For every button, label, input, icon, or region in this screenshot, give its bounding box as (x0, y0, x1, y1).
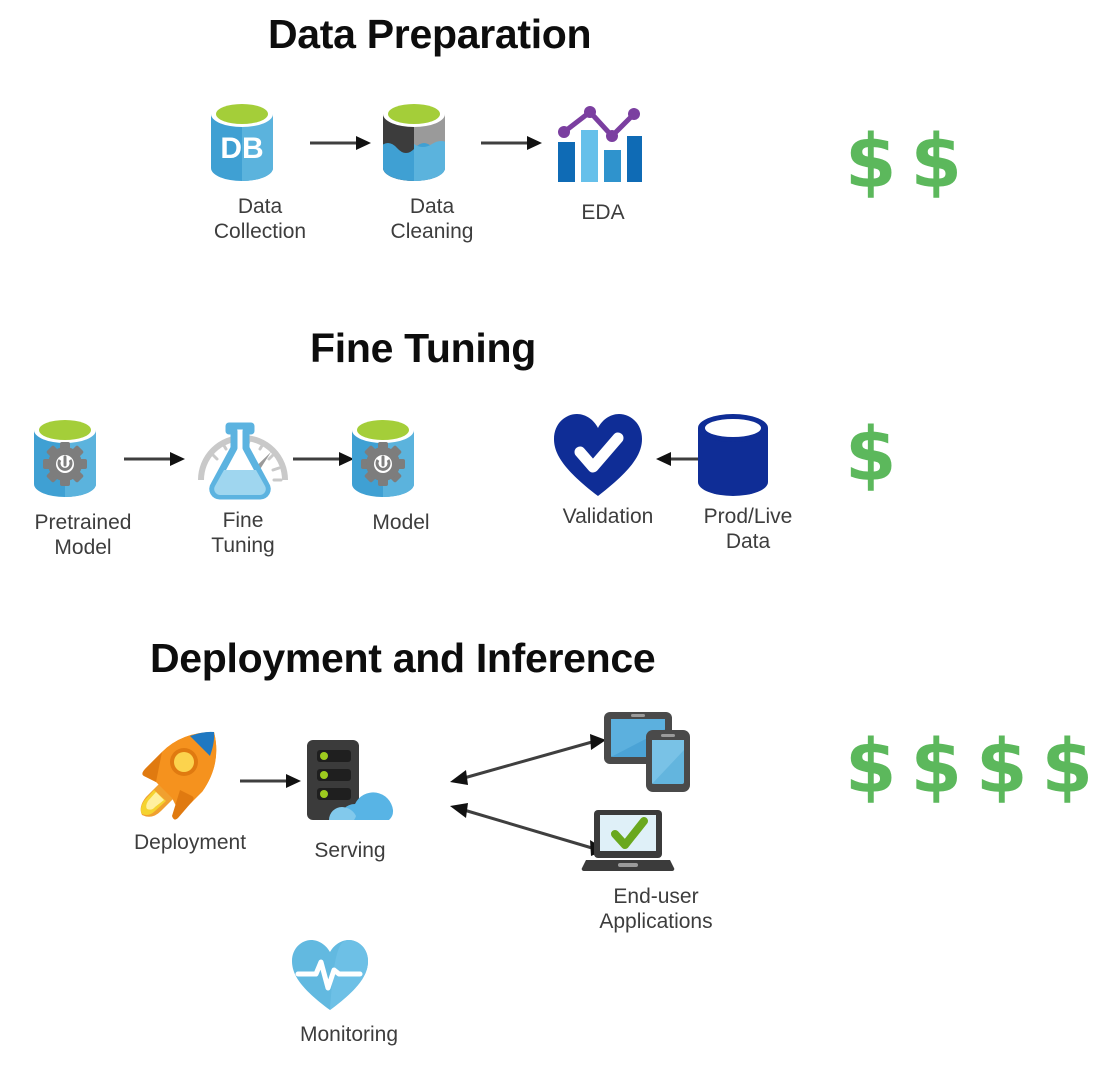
node-serving: Serving (295, 736, 405, 863)
node-prod-live-data: Prod/Live Data (692, 412, 804, 554)
rocket-icon (126, 728, 254, 820)
section-title-deployment-and-inference: Deployment and Inference (150, 638, 655, 679)
arrow-deployment-to-serving (240, 772, 302, 790)
node-label-fine-tuning: Fine Tuning (187, 508, 299, 558)
flask-gauge-icon (187, 408, 299, 504)
database-db-icon: DB (199, 96, 321, 188)
node-label-end-user-applications: End-user Applications (580, 884, 732, 934)
dollar-sign-icon: $ (845, 125, 897, 199)
node-label-data-collection: Data Collection (199, 194, 321, 244)
node-label-monitoring: Monitoring (290, 1022, 408, 1047)
node-end-user-applications: End-user Applications (580, 808, 732, 934)
cost-indicator-data-preparation: $ $ (845, 125, 962, 199)
arrow-cleaning-to-eda (481, 134, 543, 152)
heart-check-icon (552, 412, 664, 500)
node-label-model: Model (340, 510, 462, 535)
arrow-collection-to-cleaning (310, 134, 372, 152)
dollar-sign-icon: $ (976, 730, 1028, 804)
arrow-pretrained-to-finetuning (124, 450, 186, 468)
node-eda: EDA (548, 90, 658, 225)
node-label-prod-live-data: Prod/Live Data (692, 504, 804, 554)
node-data-collection: DB Data Collection (199, 96, 321, 244)
node-pretrained-model: Pretrained Model (22, 412, 144, 560)
node-monitoring: Monitoring (290, 938, 408, 1047)
tablet-phone-icon (598, 704, 714, 796)
node-label-serving: Serving (295, 838, 405, 863)
section-title-fine-tuning: Fine Tuning (310, 328, 536, 369)
node-label-deployment: Deployment (126, 830, 254, 855)
node-model: Model (340, 412, 462, 535)
diagram-canvas: Data Preparation DB Data Collection (0, 0, 1100, 1081)
dollar-sign-icon: $ (911, 730, 963, 804)
dollar-sign-icon: $ (845, 730, 897, 804)
arrow-serving-to-devices (448, 730, 608, 790)
node-validation: Validation (552, 412, 664, 529)
node-deployment: Deployment (126, 728, 254, 855)
cylinder-navy-icon (692, 412, 804, 500)
node-label-eda: EDA (548, 200, 658, 225)
database-cleaning-icon (371, 96, 493, 188)
dollar-sign-icon: $ (1042, 730, 1094, 804)
node-data-cleaning: Data Cleaning (371, 96, 493, 244)
node-fine-tuning: Fine Tuning (187, 408, 299, 558)
dollar-sign-icon: $ (911, 125, 963, 199)
node-label-data-cleaning: Data Cleaning (371, 194, 493, 244)
svg-text:DB: DB (220, 132, 263, 165)
node-label-pretrained-model: Pretrained Model (22, 510, 144, 560)
dollar-sign-icon: $ (845, 418, 897, 492)
cost-indicator-deployment-and-inference: $ $ $ $ (845, 730, 1093, 804)
node-devices (598, 704, 714, 796)
bar-line-chart-icon (548, 90, 658, 186)
heart-pulse-icon (290, 938, 408, 1012)
node-label-validation: Validation (552, 504, 664, 529)
cost-indicator-fine-tuning: $ (845, 418, 897, 492)
section-title-data-preparation: Data Preparation (268, 14, 591, 55)
server-cloud-icon (295, 736, 405, 828)
database-gear-icon (340, 412, 462, 504)
laptop-check-icon (580, 808, 732, 872)
